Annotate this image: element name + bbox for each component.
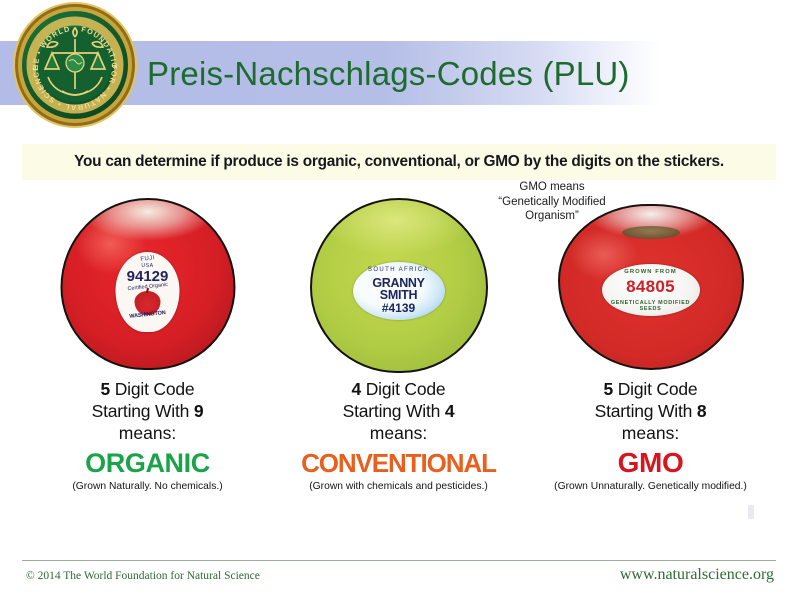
caption-subtext: (Grown with chemicals and pesticides.) [273,480,524,494]
caption-line-1: 5 Digit Code [525,378,776,400]
caption-line-2: Starting With 4 [273,400,524,422]
caption-digit-count: 5 [604,379,614,399]
slide: THE • WORLD • FOUNDATION FOR • NATURAL •… [0,0,800,600]
caption-subtext: (Grown Naturally. No chemicals.) [22,480,273,494]
sticker-plu-code: 84805 [602,277,700,296]
verdict-organic: ORGANIC [22,447,273,479]
caption-starting-digit: 9 [194,401,204,421]
caption-gmo: 5 Digit Code Starting With 8 means: GMO … [525,378,776,494]
caption-line-1-rest: Digit Code [613,379,697,399]
slide-header: THE • WORLD • FOUNDATION FOR • NATURAL •… [0,0,800,132]
scan-artifact [748,505,754,519]
content-panel: You can determine if produce is organic,… [22,144,776,518]
red-tomato-icon: GROWN FROM 84805 GENETICALLY MODIFIED SE… [558,204,744,370]
fruit-image-conventional: SOUTH AFRICA GRANNY SMITH #4139 [273,192,524,377]
caption-digit-count: 5 [101,379,111,399]
sticker-name-line-2: SMITH [353,289,445,302]
caption-line-2-prefix: Starting With [343,401,445,421]
column-organic: FUJI USA 94129 Certified Organic WASHING… [22,192,273,518]
caption-conventional: 4 Digit Code Starting With 4 means: CONV… [273,378,524,494]
tomato-stem-icon [622,226,680,239]
caption-line-2: Starting With 9 [22,400,273,422]
plu-sticker-conventional: SOUTH AFRICA GRANNY SMITH #4139 [353,262,445,320]
caption-means: means: [525,422,776,445]
copyright-text: © 2014 The World Foundation for Natural … [26,570,260,582]
slide-footer: © 2014 The World Foundation for Natural … [22,560,776,592]
caption-line-1-rest: Digit Code [361,379,445,399]
green-granny-smith-apple-icon: SOUTH AFRICA GRANNY SMITH #4139 [310,198,488,373]
sticker-origin: SOUTH AFRICA [353,267,445,273]
sticker-top-text: GROWN FROM [602,269,700,275]
caption-starting-digit: 8 [697,401,707,421]
caption-means: means: [273,422,524,445]
verdict-conventional: CONVENTIONAL [273,447,524,479]
fruit-image-gmo: GROWN FROM 84805 GENETICALLY MODIFIED SE… [525,192,776,377]
plu-sticker-gmo: GROWN FROM 84805 GENETICALLY MODIFIED SE… [602,264,700,316]
seal-emblem-icon: THE • WORLD • FOUNDATION FOR • NATURAL •… [22,11,128,119]
footer-divider [22,560,776,561]
caption-line-1: 5 Digit Code [22,378,273,400]
comparison-columns: FUJI USA 94129 Certified Organic WASHING… [22,192,776,518]
sticker-state: WASHINGTON [129,310,166,320]
caption-line-1-rest: Digit Code [110,379,194,399]
column-conventional: SOUTH AFRICA GRANNY SMITH #4139 4 Digit … [273,192,524,518]
sticker-brand: FUJI [140,255,155,263]
sticker-bottom-text: GENETICALLY MODIFIED SEEDS [602,300,700,312]
headline-text: You can determine if produce is organic,… [22,144,776,180]
world-foundation-seal-logo: THE • WORLD • FOUNDATION FOR • NATURAL •… [22,11,128,119]
caption-line-2: Starting With 8 [525,400,776,422]
caption-subtext: (Grown Unnaturally. Genetically modified… [525,480,776,494]
red-fuji-apple-icon: FUJI USA 94129 Certified Organic WASHING… [60,198,235,370]
caption-means: means: [22,422,273,445]
page-title: Preis-Nachschlags-Codes (PLU) [147,46,667,102]
caption-line-2-prefix: Starting With [595,401,697,421]
fruit-image-organic: FUJI USA 94129 Certified Organic WASHING… [22,192,273,377]
column-gmo: GROWN FROM 84805 GENETICALLY MODIFIED SE… [525,192,776,518]
caption-line-2-prefix: Starting With [92,401,194,421]
plu-sticker-organic: FUJI USA 94129 Certified Organic WASHING… [116,252,180,332]
caption-digit-count: 4 [352,379,362,399]
caption-organic: 5 Digit Code Starting With 9 means: ORGA… [22,378,273,494]
website-url[interactable]: www.naturalscience.org [620,566,774,584]
sticker-plu-code: #4139 [353,302,445,314]
caption-starting-digit: 4 [445,401,455,421]
verdict-gmo: GMO [525,447,776,479]
caption-line-1: 4 Digit Code [273,378,524,400]
